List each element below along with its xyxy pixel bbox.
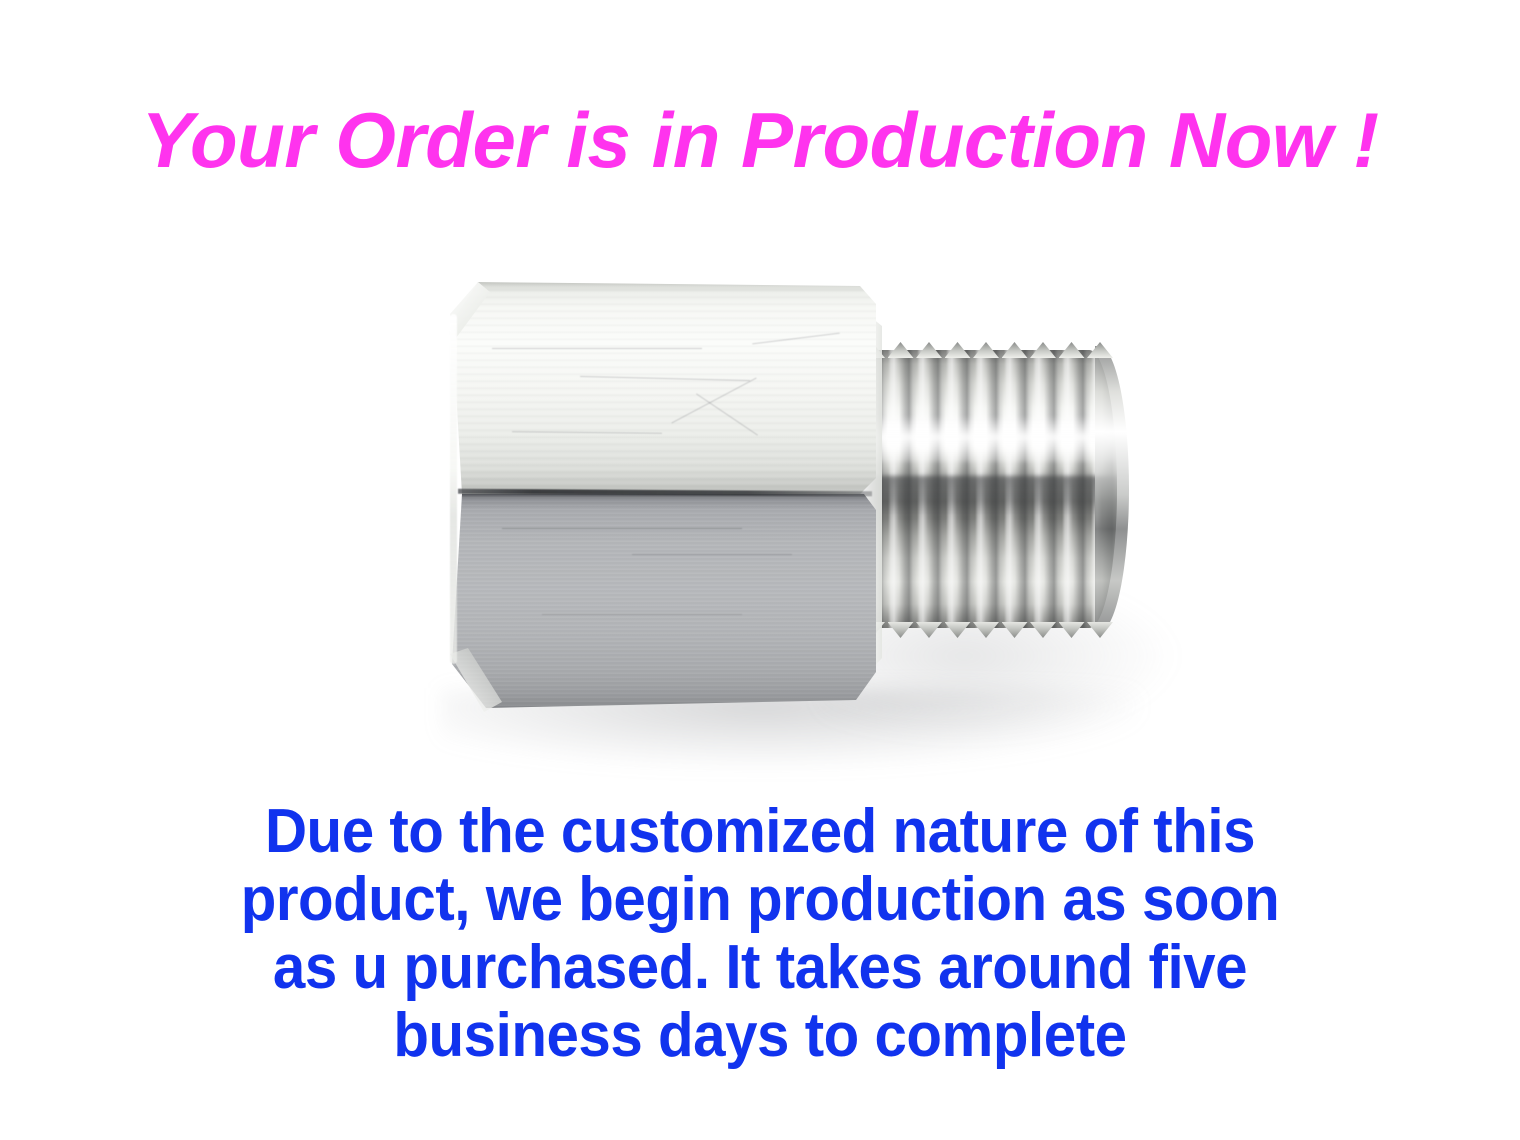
page-title: Your Order is in Production Now ! — [0, 96, 1520, 184]
threaded-nipple — [855, 340, 1127, 640]
notice-line-2: product, we begin production as soon — [46, 866, 1475, 934]
thread-crest — [1087, 622, 1113, 638]
hex-upper-facet — [452, 282, 876, 496]
thread-body — [859, 350, 1117, 628]
production-notice: Due to the customized nature of thisprod… — [0, 798, 1520, 1070]
product-photo-canvas — [0, 240, 1520, 780]
thread-shadow-band — [859, 476, 1117, 516]
thread-crest — [1002, 622, 1028, 638]
thread-end-chamfer — [1095, 346, 1129, 632]
machining-streaks-lower — [452, 494, 876, 710]
hex-lower-facet — [452, 494, 876, 710]
thread-crest — [916, 622, 942, 638]
surface-scratch — [492, 348, 702, 349]
thread-crest — [1059, 622, 1085, 638]
surface-scratch — [752, 333, 839, 345]
thread-crest — [945, 622, 971, 638]
thread-specular-highlight — [859, 416, 1117, 462]
surface-scratch — [632, 554, 792, 555]
machining-streaks-upper — [452, 282, 876, 496]
surface-scratch — [502, 528, 742, 529]
thread-crest — [973, 622, 999, 638]
surface-scratch — [580, 376, 750, 381]
surface-scratch — [696, 393, 758, 435]
notice-line-3: as u purchased. It takes around five — [46, 934, 1475, 1002]
hex-body — [452, 280, 880, 712]
promo-graphic: Your Order is in Production Now ! — [0, 0, 1520, 1140]
surface-scratch — [542, 614, 742, 615]
surface-scratch — [512, 431, 662, 434]
thread-crest — [1030, 622, 1056, 638]
notice-line-1: Due to the customized nature of this — [46, 798, 1475, 866]
notice-line-4: business days to complete — [46, 1002, 1475, 1070]
thread-crest — [888, 622, 914, 638]
surface-scratch — [671, 378, 756, 424]
product-photo — [0, 240, 1520, 780]
hex-left-edge — [450, 314, 457, 664]
